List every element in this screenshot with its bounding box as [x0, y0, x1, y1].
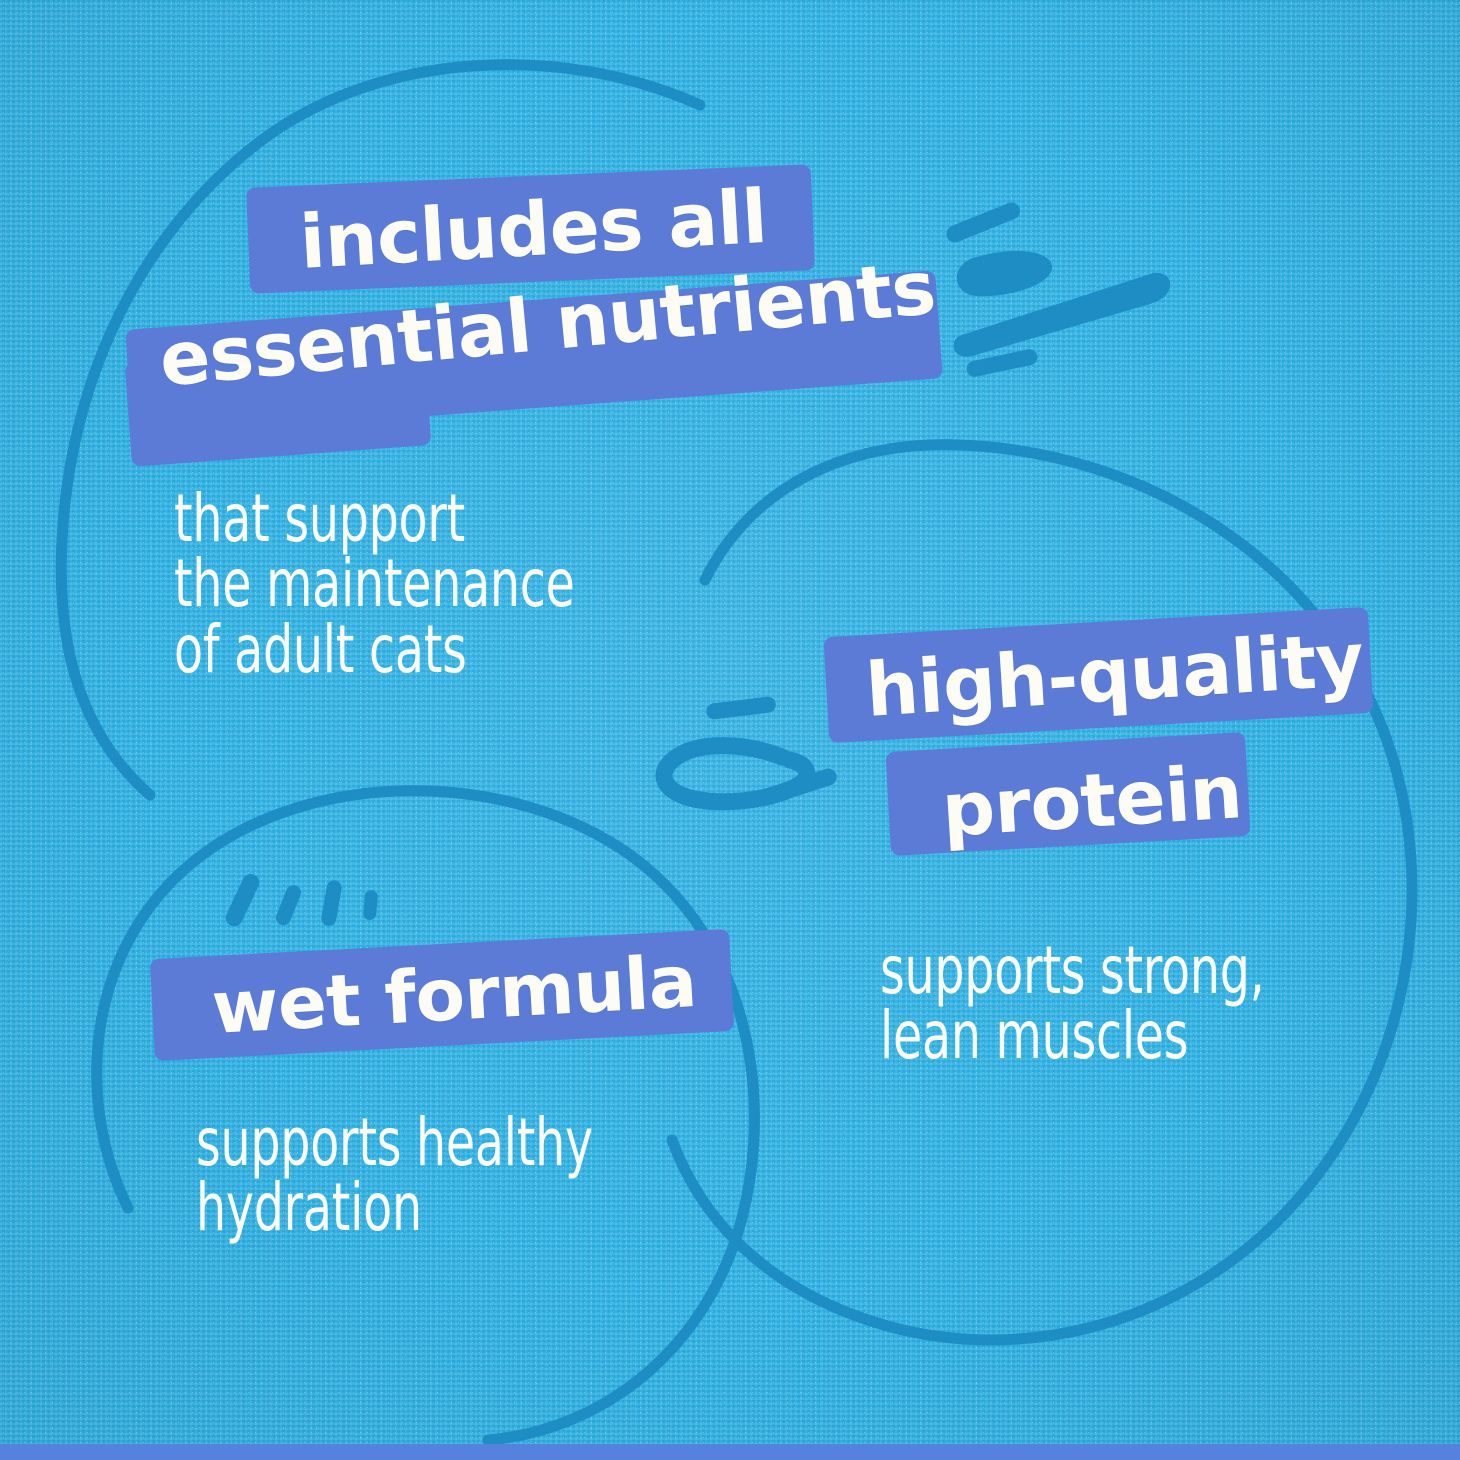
speed-lines-middle-icon	[664, 696, 839, 807]
claim-1-body: that support the maintenance of adult ca…	[174, 486, 734, 682]
poster-canvas: includes all essential nutrients that su…	[0, 0, 1460, 1460]
claim-3-body: supports healthy hydration	[196, 1110, 756, 1241]
bottom-accent-bar	[0, 1444, 1460, 1460]
emphasis-ticks-icon	[223, 871, 378, 929]
speed-lines-top-right-icon	[944, 200, 1170, 378]
claim-2-body: supports strong, lean muscles	[880, 938, 1424, 1069]
circle-right-icon	[672, 445, 1412, 1340]
